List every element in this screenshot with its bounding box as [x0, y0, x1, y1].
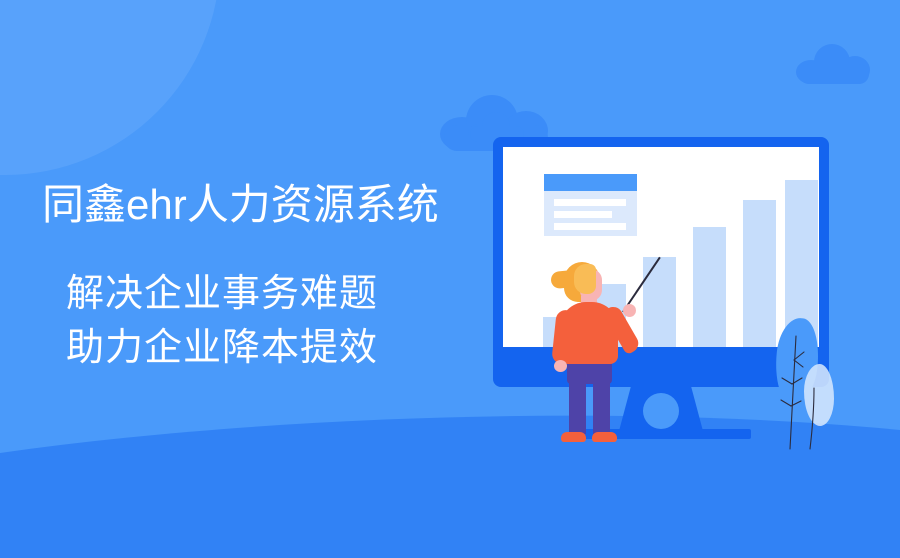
presenter-figure [548, 262, 638, 444]
chart-bar [643, 257, 676, 347]
shoe-left [561, 432, 586, 442]
monitor-stand-knob [643, 393, 679, 429]
hand-right [623, 304, 636, 317]
hand-left [554, 360, 567, 372]
tree-illustration [774, 318, 844, 450]
shoe-right [592, 432, 617, 442]
page-title: 同鑫ehr人力资源系统 [42, 180, 439, 230]
widget-text-line [554, 223, 626, 230]
subtitle-line-1: 解决企业事务难题 [66, 268, 378, 320]
tree-branches [774, 318, 844, 450]
text-block: 同鑫ehr人力资源系统 解决企业事务难题 助力企业降本提效 [0, 0, 470, 558]
promo-banner: 同鑫ehr人力资源系统 解决企业事务难题 助力企业降本提效 [0, 0, 900, 558]
chart-bar [693, 227, 726, 347]
widget-card-header [544, 174, 637, 191]
widget-text-line [554, 211, 612, 218]
chart-bar [743, 200, 776, 347]
dashboard-widget-card [544, 174, 637, 236]
widget-text-line [554, 199, 626, 206]
cloud-icon-top-right [796, 44, 874, 84]
hair-front [574, 264, 596, 294]
subtitle-line-2: 助力企业降本提效 [66, 322, 378, 374]
